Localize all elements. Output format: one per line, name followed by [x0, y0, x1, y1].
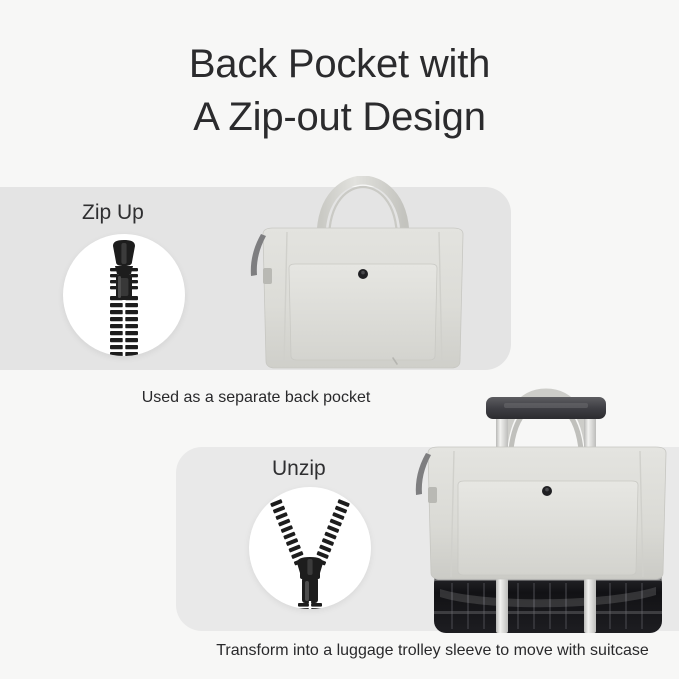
zipper-right-teeth: [314, 499, 350, 566]
tote-bag-scene: [243, 176, 483, 372]
infographic-canvas: Back Pocket with A Zip-out Design: [0, 0, 679, 679]
zipper-open-icon: [249, 487, 371, 609]
page-title: Back Pocket with A Zip-out Design: [0, 38, 679, 144]
zipper-closed-icon: [63, 234, 185, 356]
title-line-1: Back Pocket with: [0, 38, 679, 91]
title-line-2: A Zip-out Design: [0, 91, 679, 144]
trolley-handle-bar: [486, 397, 606, 419]
zipper-closed-badge: [63, 234, 185, 356]
caption-unzip: Transform into a luggage trolley sleeve …: [176, 643, 679, 659]
luggage-trolley-scene: [414, 371, 679, 636]
black-suitcase: [434, 571, 662, 633]
zipper-left-teeth: [270, 499, 306, 566]
tote-bag-illustration: [243, 176, 483, 372]
zipper-open-badge: [249, 487, 371, 609]
bag-on-suitcase-illustration: [414, 371, 679, 636]
section-label-zip-up: Zip Up: [82, 202, 144, 223]
section-label-unzip: Unzip: [272, 458, 326, 479]
